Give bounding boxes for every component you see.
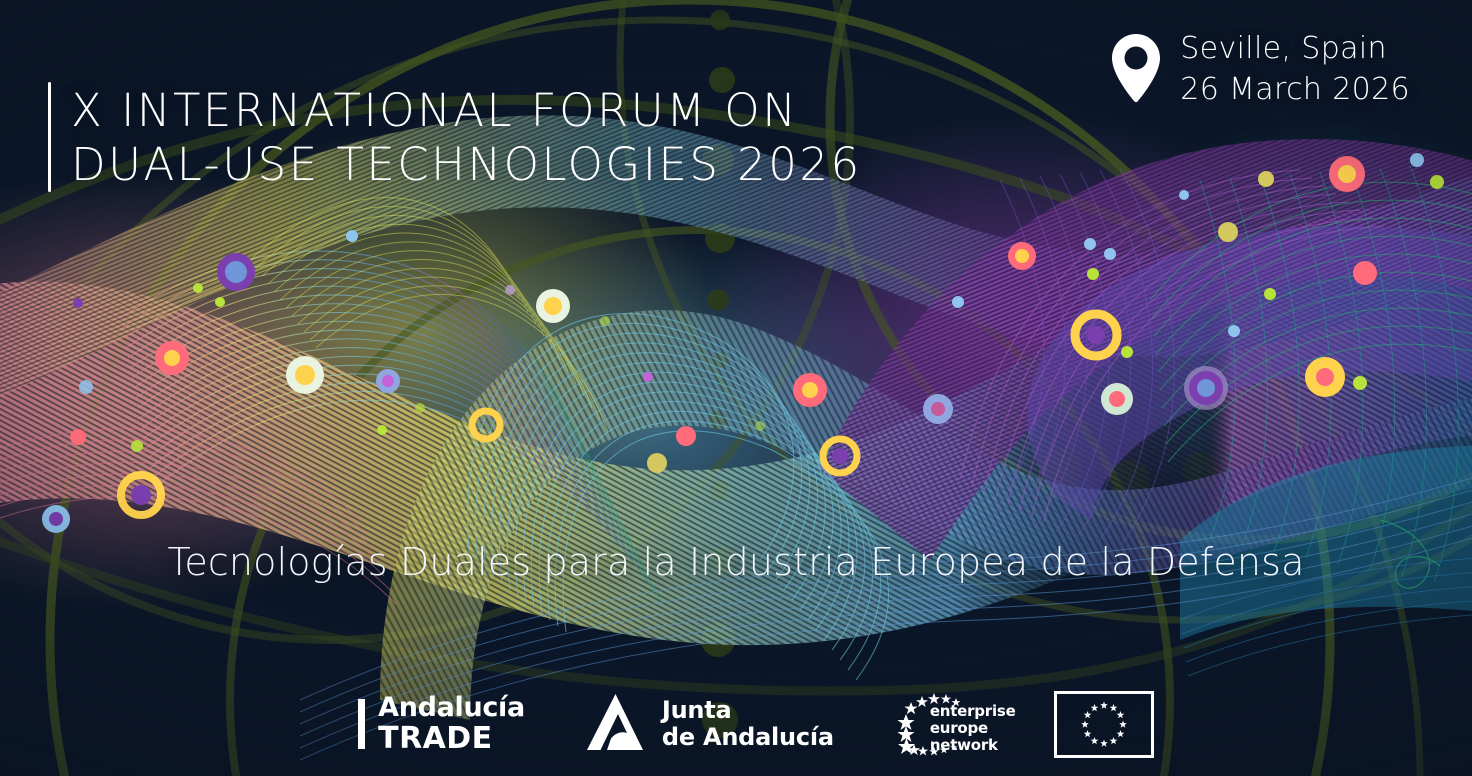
logo-junta-de-andalucia: Junta de Andalucía — [587, 693, 834, 756]
title-divider-rule — [48, 82, 51, 192]
eu-flag-icon — [1054, 691, 1154, 758]
star-arc-mark-icon: enterprise europe network — [896, 690, 992, 758]
event-meta: Seville, Spain 26 March 2026 — [1108, 28, 1410, 113]
logo-european-union-flag — [1054, 691, 1154, 758]
page-title-line-2: DUAL-USE TECHNOLOGIES 2026 — [71, 138, 862, 192]
vertical-bar-mark-icon — [358, 699, 365, 749]
event-banner: X INTERNATIONAL FORUM ON DUAL-USE TECHNO… — [0, 0, 1472, 776]
logo-een-line-2: europe — [930, 720, 1016, 737]
junta-a-arch-mark-icon — [587, 693, 649, 756]
event-subtitle: Tecnologías Duales para la Industria Eur… — [0, 540, 1472, 584]
logo-andalucia-trade-line-2: TRADE — [378, 724, 525, 754]
title-block: X INTERNATIONAL FORUM ON DUAL-USE TECHNO… — [48, 82, 862, 192]
sponsor-logo-bar: Andalucía TRADE Junta de Andalucía — [0, 690, 1472, 758]
logo-enterprise-europe-network: enterprise europe network — [896, 690, 992, 758]
logo-junta-line-2: de Andalucía — [662, 724, 834, 751]
event-location: Seville, Spain — [1180, 28, 1410, 69]
logo-een-line-3: network — [930, 737, 1016, 754]
logo-andalucia-trade-line-1: Andalucía — [378, 694, 525, 721]
event-date: 26 March 2026 — [1180, 69, 1410, 110]
page-title-line-1: X INTERNATIONAL FORUM ON — [71, 84, 862, 138]
map-pin-icon — [1108, 32, 1164, 113]
logo-andalucia-trade: Andalucía TRADE — [358, 694, 525, 754]
logo-een-line-1: enterprise — [930, 703, 1016, 720]
logo-junta-line-1: Junta — [662, 697, 834, 724]
